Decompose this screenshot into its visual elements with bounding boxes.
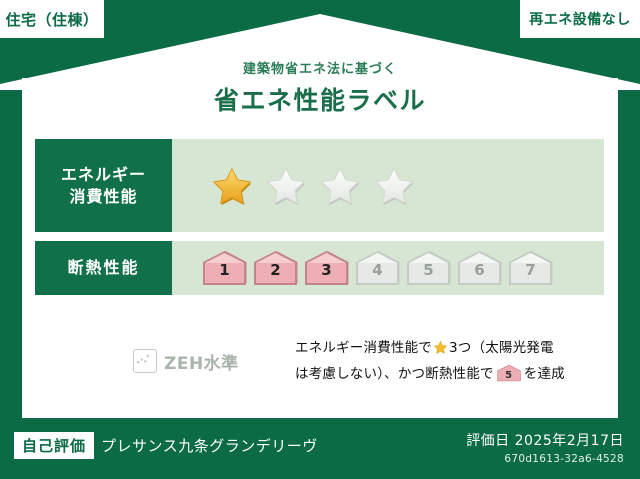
insulation-level-badge: 3 xyxy=(303,248,350,288)
energy-label-line1: エネルギー xyxy=(61,164,146,186)
note-section: ZEH水準 エネルギー消費性能で3つ（太陽光発電 は考慮しない）、かつ断熱性能で… xyxy=(35,330,604,392)
star-rating xyxy=(172,165,416,207)
insulation-performance-label: 断熱性能 xyxy=(35,241,172,295)
insulation-performance-value: 1234567 xyxy=(172,241,604,295)
insulation-level-value: 5 xyxy=(405,261,452,279)
building-name: プレサンス九条グランデリーヴ xyxy=(101,435,318,456)
insulation-level-value: 1 xyxy=(201,261,248,279)
star-filled-icon xyxy=(210,165,254,207)
self-evaluation-badge: 自己評価 xyxy=(14,432,94,459)
desc-text-part1: エネルギー消費性能で xyxy=(295,340,432,356)
insulation-level-value: 6 xyxy=(456,261,503,279)
energy-label-line2: 消費性能 xyxy=(69,186,137,208)
zeh-dots-icon xyxy=(133,349,157,373)
insulation-level-badge: 2 xyxy=(252,248,299,288)
zeh-standard-marker: ZEH水準 xyxy=(35,349,273,374)
insulation-level-badge: 6 xyxy=(456,248,503,288)
inline-star-icon xyxy=(433,340,448,362)
star-empty-icon xyxy=(318,165,362,207)
zeh-standard-label: ZEH水準 xyxy=(164,349,239,374)
insulation-level-badge: 4 xyxy=(354,248,401,288)
document-id: 670d1613-32a6-4528 xyxy=(466,453,624,465)
energy-performance-row: エネルギー 消費性能 xyxy=(35,139,604,232)
evaluation-date: 評価日 2025年2月17日 xyxy=(466,430,624,450)
insulation-level-value: 3 xyxy=(303,261,350,279)
renewable-equipment-tab: 再エネ設備なし xyxy=(520,0,640,38)
achievement-description: エネルギー消費性能で3つ（太陽光発電 は考慮しない）、かつ断熱性能で5を達成 xyxy=(273,337,565,385)
insulation-level-value: 2 xyxy=(252,261,299,279)
desc-star-count: 3つ（太陽光発電 xyxy=(449,340,554,356)
insulation-level-scale: 1234567 xyxy=(172,248,554,288)
desc-text-part2: は考慮しない）、かつ断熱性能で xyxy=(295,366,494,382)
inline-insulation-badge: 5 xyxy=(496,364,522,382)
insulation-level-value: 4 xyxy=(354,261,401,279)
energy-performance-label: エネルギー 消費性能 xyxy=(35,139,172,232)
insulation-level-value: 7 xyxy=(507,261,554,279)
building-type-tab: 住宅（住棟） xyxy=(0,0,104,38)
footer: 自己評価 プレサンス九条グランデリーヴ 評価日 2025年2月17日 670d1… xyxy=(0,418,640,479)
page-title: 省エネ性能ラベル xyxy=(0,81,640,117)
title-block: 建築物省エネ法に基づく 省エネ性能ラベル xyxy=(0,58,640,117)
insulation-performance-row: 断熱性能 1234567 xyxy=(35,241,604,295)
inline-badge-value: 5 xyxy=(496,368,522,385)
footer-right-group: 評価日 2025年2月17日 670d1613-32a6-4528 xyxy=(466,430,624,465)
star-empty-icon xyxy=(372,165,416,207)
energy-performance-value xyxy=(172,139,604,232)
insulation-level-badge: 1 xyxy=(201,248,248,288)
zeh-dots-glyph xyxy=(134,350,153,369)
title-subtitle: 建築物省エネ法に基づく xyxy=(0,58,640,77)
star-empty-icon xyxy=(264,165,308,207)
insulation-level-badge: 5 xyxy=(405,248,452,288)
desc-text-part3: を達成 xyxy=(524,366,565,382)
insulation-level-badge: 7 xyxy=(507,248,554,288)
self-evaluation-group: 自己評価 プレサンス九条グランデリーヴ xyxy=(14,432,318,459)
energy-label-card: 住宅（住棟） 再エネ設備なし 建築物省エネ法に基づく 省エネ性能ラベル エネルギ… xyxy=(0,0,640,479)
